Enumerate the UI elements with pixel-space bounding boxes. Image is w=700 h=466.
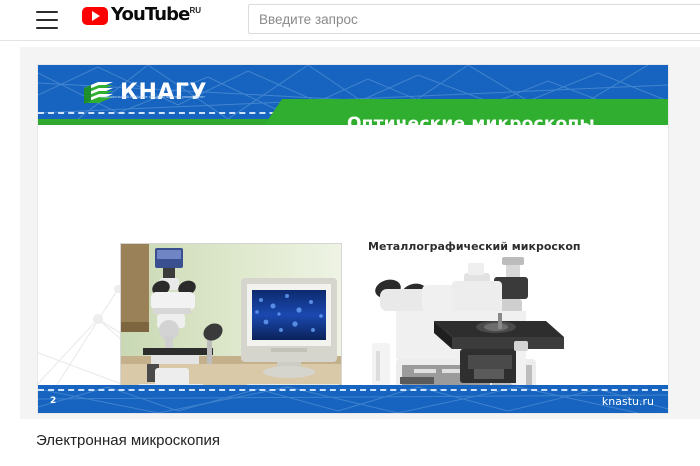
video-title[interactable]: Электронная микроскопия — [36, 432, 220, 449]
youtube-wordmark: YouTube — [111, 6, 189, 24]
youtube-locale-superscript: RU — [189, 6, 201, 15]
video-player[interactable]: КНАГУ Комсомольский-на-Амуре государстве… — [20, 47, 700, 419]
search-input[interactable] — [248, 4, 700, 34]
page-root: YouTube RU — [0, 0, 700, 466]
youtube-logo[interactable]: YouTube RU — [82, 7, 201, 25]
knagu-logo: КНАГУ Комсомольский-на-Амуре государстве… — [82, 79, 207, 107]
slide-site-url: knastu.ru — [602, 395, 654, 408]
knagu-wordmark: КНАГУ Комсомольский-на-Амуре государстве… — [120, 82, 207, 104]
knagu-subtext: Комсомольский-на-Амуре государственный у… — [100, 86, 205, 108]
hamburger-menu-icon[interactable] — [36, 11, 58, 29]
slide-page-number: 2 — [50, 396, 56, 406]
biological-microscope-photo — [120, 243, 342, 393]
play-triangle-icon — [82, 7, 108, 25]
presentation-slide: КНАГУ Комсомольский-на-Амуре государстве… — [38, 65, 668, 413]
metallographic-microscope-photo — [356, 255, 586, 393]
caption-metallographic: Металлографический микроскоп — [368, 240, 581, 253]
hamburger-bar — [36, 11, 58, 13]
search-bar[interactable] — [248, 4, 700, 34]
youtube-header: YouTube RU — [0, 0, 700, 41]
hamburger-bar — [36, 27, 58, 29]
footer-dashed-divider — [38, 389, 668, 391]
slide-body: Металлографический микроскоп — [38, 125, 668, 393]
hamburger-bar — [36, 19, 58, 21]
slide-footer-bar: 2 knastu.ru — [38, 385, 668, 413]
